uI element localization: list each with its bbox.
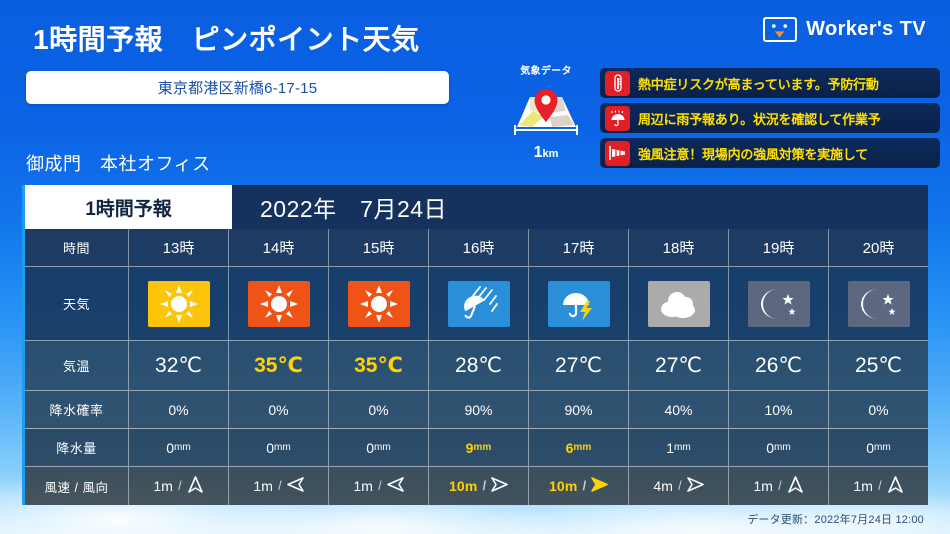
alert-wind[interactable]: 強風注意！現場内の強風対策を実施して — [600, 138, 940, 168]
thermometer-icon — [605, 71, 630, 96]
precip-amount-value: 6 — [566, 440, 574, 456]
precip-amount-value: 1 — [666, 440, 674, 456]
wind-speed-value: 1m — [353, 478, 373, 494]
wind-speed-value: 1m — [853, 478, 873, 494]
precip-amount-unit: mm — [774, 442, 791, 453]
table-row-precip-amount: 降水量 0mm 0mm 0mm 9mm 6mm 1mm 0mm — [25, 429, 928, 467]
precip-amount-cell: 0mm — [729, 429, 829, 466]
address-input[interactable]: 東京都港区新橋6-17-15 — [26, 71, 449, 104]
forecast-date: 2022年 7月24日 — [232, 185, 928, 229]
wind-cell: 10m / — [529, 467, 629, 505]
precip-amount-unit: mm — [274, 442, 291, 453]
precip-amount-unit: mm — [174, 442, 191, 453]
site-name: 御成門 本社オフィス — [26, 150, 211, 176]
forecast-table: 1時間予報 2022年 7月24日 時間 13時 14時 15時 16時 17時… — [22, 185, 928, 505]
precip-amount-value: 9 — [466, 440, 474, 456]
precip-amount-value: 0 — [366, 440, 374, 456]
wind-cell: 1m / — [329, 467, 429, 505]
precip-probability-cell: 0% — [829, 391, 928, 428]
brand-name: Worker's TV — [806, 18, 926, 41]
wind-speed-value: 1m — [153, 478, 173, 494]
north-arrow-icon — [187, 476, 204, 496]
wind-speed-value: 1m — [753, 478, 773, 494]
wind-separator: / — [483, 479, 487, 493]
alert-wind-text: 強風注意！現場内の強風対策を実施して — [638, 144, 868, 163]
weather-cell — [629, 267, 729, 340]
alert-heatstroke-text: 熱中症リスクが高まっています。予防行動 — [638, 74, 879, 93]
weather-cell — [729, 267, 829, 340]
row-label-precip-probability: 降水確率 — [25, 391, 129, 428]
hour-cell: 19時 — [729, 229, 829, 266]
wind-separator: / — [778, 479, 782, 493]
weather-cell — [329, 267, 429, 340]
wind-cell: 4m / — [629, 467, 729, 505]
wind-separator: / — [583, 479, 587, 493]
table-row-hour: 時間 13時 14時 15時 16時 17時 18時 19時 20時 — [25, 229, 928, 267]
east-arrow-icon — [491, 476, 508, 496]
sunny-icon — [348, 281, 410, 327]
wind-separator: / — [378, 479, 382, 493]
precip-amount-unit: mm — [874, 442, 891, 453]
weather-forecast-screen: 1時間予報 ピンポイント天気 Worker's TV 東京都港区新橋6-17-1… — [0, 0, 950, 534]
wind-cell: 1m / — [829, 467, 928, 505]
west-arrow-icon — [287, 476, 304, 496]
weather-cell — [529, 267, 629, 340]
hour-cell: 17時 — [529, 229, 629, 266]
hour-cell: 20時 — [829, 229, 928, 266]
precip-probability-cell: 90% — [529, 391, 629, 428]
precip-amount-unit: mm — [374, 442, 391, 453]
north-arrow-icon — [787, 476, 804, 496]
east-arrow-icon — [591, 476, 608, 496]
east-arrow-icon — [687, 476, 704, 496]
temperature-cell: 27℃ — [629, 341, 729, 390]
wind-separator: / — [878, 479, 882, 493]
alert-list: 熱中症リスクが高まっています。予防行動 周辺に雨予報あり。状況を確認して作業予 — [600, 68, 940, 168]
rain-umbrella-icon — [605, 106, 630, 131]
precip-amount-cell: 0mm — [829, 429, 928, 466]
night-clear-icon — [848, 281, 910, 327]
wind-separator: / — [678, 479, 682, 493]
cloudy-icon — [648, 281, 710, 327]
table-header: 1時間予報 2022年 7月24日 — [25, 185, 928, 229]
wind-speed-value: 10m — [449, 478, 478, 494]
precip-probability-cell: 40% — [629, 391, 729, 428]
map-pin-icon — [500, 75, 592, 145]
precip-amount-cell: 0mm — [129, 429, 229, 466]
map-scale-text: 1km — [500, 144, 592, 162]
workers-tv-logo-icon — [763, 17, 797, 42]
wind-cell: 10m / — [429, 467, 529, 505]
wind-cell: 1m / — [229, 467, 329, 505]
table-row-wind: 風速 / 風向 1m / 1m / — [25, 467, 928, 505]
row-label-weather: 天気 — [25, 267, 129, 340]
page-title: 1時間予報 ピンポイント天気 — [33, 18, 420, 58]
wind-speed-value: 4m — [653, 478, 673, 494]
temperature-cell: 35℃ — [229, 341, 329, 390]
precip-amount-cell: 6mm — [529, 429, 629, 466]
night-clear-icon — [748, 281, 810, 327]
row-label-temperature: 気温 — [25, 341, 129, 390]
wind-separator: / — [278, 479, 282, 493]
temperature-cell: 32℃ — [129, 341, 229, 390]
temperature-cell: 25℃ — [829, 341, 928, 390]
north-arrow-icon — [887, 476, 904, 496]
wind-speed-value: 1m — [253, 478, 273, 494]
temperature-cell: 28℃ — [429, 341, 529, 390]
precip-probability-cell: 90% — [429, 391, 529, 428]
precip-amount-cell: 0mm — [229, 429, 329, 466]
rain-icon — [448, 281, 510, 327]
wind-cell: 1m / — [729, 467, 829, 505]
map-scale-badge: 気象データ 1km — [500, 62, 592, 162]
sunny-icon — [148, 281, 210, 327]
table-row-weather: 天気 — [25, 267, 928, 341]
table-row-temperature: 気温 32℃ 35℃ 35℃ 28℃ 27℃ 27℃ 26℃ 25℃ — [25, 341, 928, 391]
wind-speed-value: 10m — [549, 478, 578, 494]
precip-amount-unit: mm — [473, 442, 491, 453]
precip-amount-unit: mm — [674, 442, 691, 453]
sunny-icon — [248, 281, 310, 327]
row-label-precip-amount: 降水量 — [25, 429, 129, 466]
precip-amount-value: 0 — [866, 440, 874, 456]
map-scale-value: 1 — [534, 144, 543, 161]
alert-rain[interactable]: 周辺に雨予報あり。状況を確認して作業予 — [600, 103, 940, 133]
precip-amount-value: 0 — [766, 440, 774, 456]
hour-cell: 16時 — [429, 229, 529, 266]
temperature-cell: 35℃ — [329, 341, 429, 390]
row-label-wind: 風速 / 風向 — [25, 467, 129, 505]
precip-probability-cell: 10% — [729, 391, 829, 428]
temperature-cell: 26℃ — [729, 341, 829, 390]
map-scale-unit: km — [543, 148, 559, 160]
hour-cell: 13時 — [129, 229, 229, 266]
address-value: 東京都港区新橋6-17-15 — [158, 77, 318, 98]
weather-cell — [829, 267, 928, 340]
precip-amount-unit: mm — [573, 442, 591, 453]
precip-amount-cell: 1mm — [629, 429, 729, 466]
hour-cell: 18時 — [629, 229, 729, 266]
hour-cell: 15時 — [329, 229, 429, 266]
weather-cell — [429, 267, 529, 340]
row-label-hour: 時間 — [25, 229, 129, 266]
weather-cell — [229, 267, 329, 340]
precip-amount-value: 0 — [166, 440, 174, 456]
weather-cell — [129, 267, 229, 340]
wind-separator: / — [178, 479, 182, 493]
brand-logo: Worker's TV — [763, 17, 926, 42]
precip-probability-cell: 0% — [129, 391, 229, 428]
precip-amount-value: 0 — [266, 440, 274, 456]
windsock-icon — [605, 141, 630, 166]
data-updated-note: データ更新：2022年7月24日 12:00 — [747, 511, 924, 527]
precip-amount-cell: 9mm — [429, 429, 529, 466]
precip-probability-cell: 0% — [229, 391, 329, 428]
alert-rain-text: 周辺に雨予報あり。状況を確認して作業予 — [638, 109, 881, 128]
table-title: 1時間予報 — [25, 185, 232, 229]
precip-probability-cell: 0% — [329, 391, 429, 428]
temperature-cell: 27℃ — [529, 341, 629, 390]
hour-cell: 14時 — [229, 229, 329, 266]
table-row-precip-probability: 降水確率 0% 0% 0% 90% 90% 40% 10% 0% — [25, 391, 928, 429]
precip-amount-cell: 0mm — [329, 429, 429, 466]
west-arrow-icon — [387, 476, 404, 496]
wind-cell: 1m / — [129, 467, 229, 505]
thunderstorm-icon — [548, 281, 610, 327]
alert-heatstroke[interactable]: 熱中症リスクが高まっています。予防行動 — [600, 68, 940, 98]
